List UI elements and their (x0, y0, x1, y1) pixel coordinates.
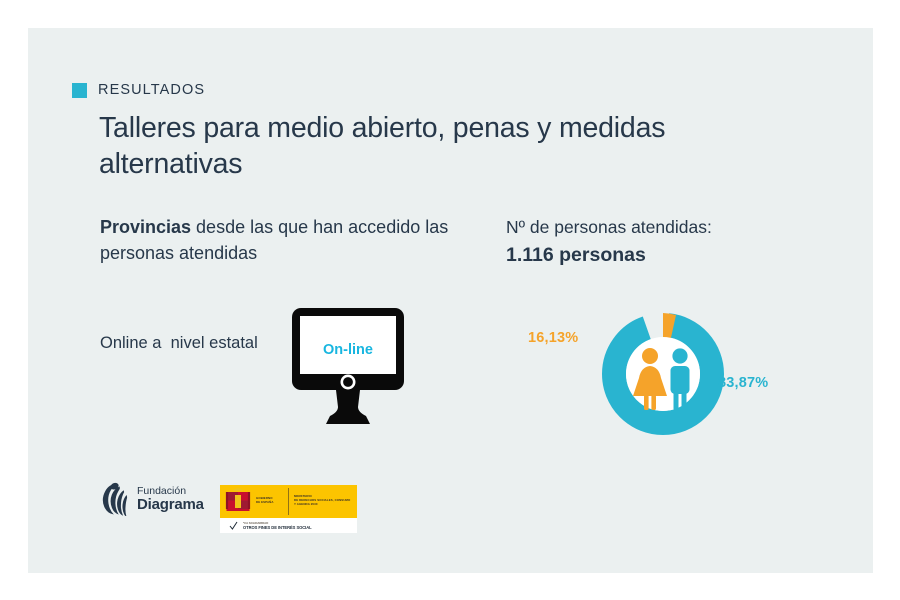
gender-donut-chart (578, 286, 748, 446)
diagrama-wordmark: Fundación Diagrama (137, 486, 204, 512)
gobierno-yellow-band: GOBIERNO DE ESPAÑA MINISTERIO DE DERECHO… (220, 485, 357, 518)
escudo-espana-icon (225, 487, 251, 516)
square-bullet-icon (72, 83, 87, 98)
attended-count: 1.116 personas (506, 241, 816, 270)
check-icon (229, 521, 238, 531)
monitor-icon: On-line (278, 306, 418, 431)
gobierno-espana-logo: GOBIERNO DE ESPAÑA MINISTERIO DE DERECHO… (220, 485, 357, 533)
online-scope-label: Online a nivel estatal (100, 331, 270, 356)
page-title: Talleres para medio abierto, penas y med… (99, 110, 719, 183)
donut-svg (578, 286, 748, 446)
eyebrow-label: RESULTADOS (98, 82, 205, 98)
gob-line2: DE ESPAÑA (256, 501, 274, 505)
monitor-illustration: On-line (278, 306, 418, 431)
irpf-line2: OTROS FINES DE INTERÉS SOCIAL (243, 525, 312, 530)
diagrama-wordmark-line2: Diagrama (137, 497, 204, 512)
diagrama-spiral-icon (100, 482, 130, 516)
provinces-subtitle-strong: Provincias (100, 217, 191, 237)
section-eyebrow: RESULTADOS (72, 82, 205, 98)
slide-card: RESULTADOS Talleres para medio abierto, … (28, 28, 873, 573)
donut-label-hombres: 83,87% (718, 375, 768, 391)
gob-line5: Y AGENDA 2030 (294, 503, 318, 507)
attended-heading: Nº de personas atendidas:1.116 personas (506, 214, 816, 271)
irpf-band: *CA SOLIDARIDAD OTROS FINES DE INTERÉS S… (220, 518, 357, 533)
attended-heading-label: Nº de personas atendidas: (506, 217, 712, 237)
irpf-text: *CA SOLIDARIDAD OTROS FINES DE INTERÉS S… (243, 521, 312, 530)
fundacion-diagrama-logo: Fundación Diagrama (100, 482, 204, 516)
gob-divider (288, 488, 289, 515)
monitor-screen-text: On-line (323, 342, 373, 358)
provinces-subtitle: Provincias desde las que han accedido la… (100, 214, 460, 266)
donut-label-mujeres: 16,13% (528, 330, 578, 346)
